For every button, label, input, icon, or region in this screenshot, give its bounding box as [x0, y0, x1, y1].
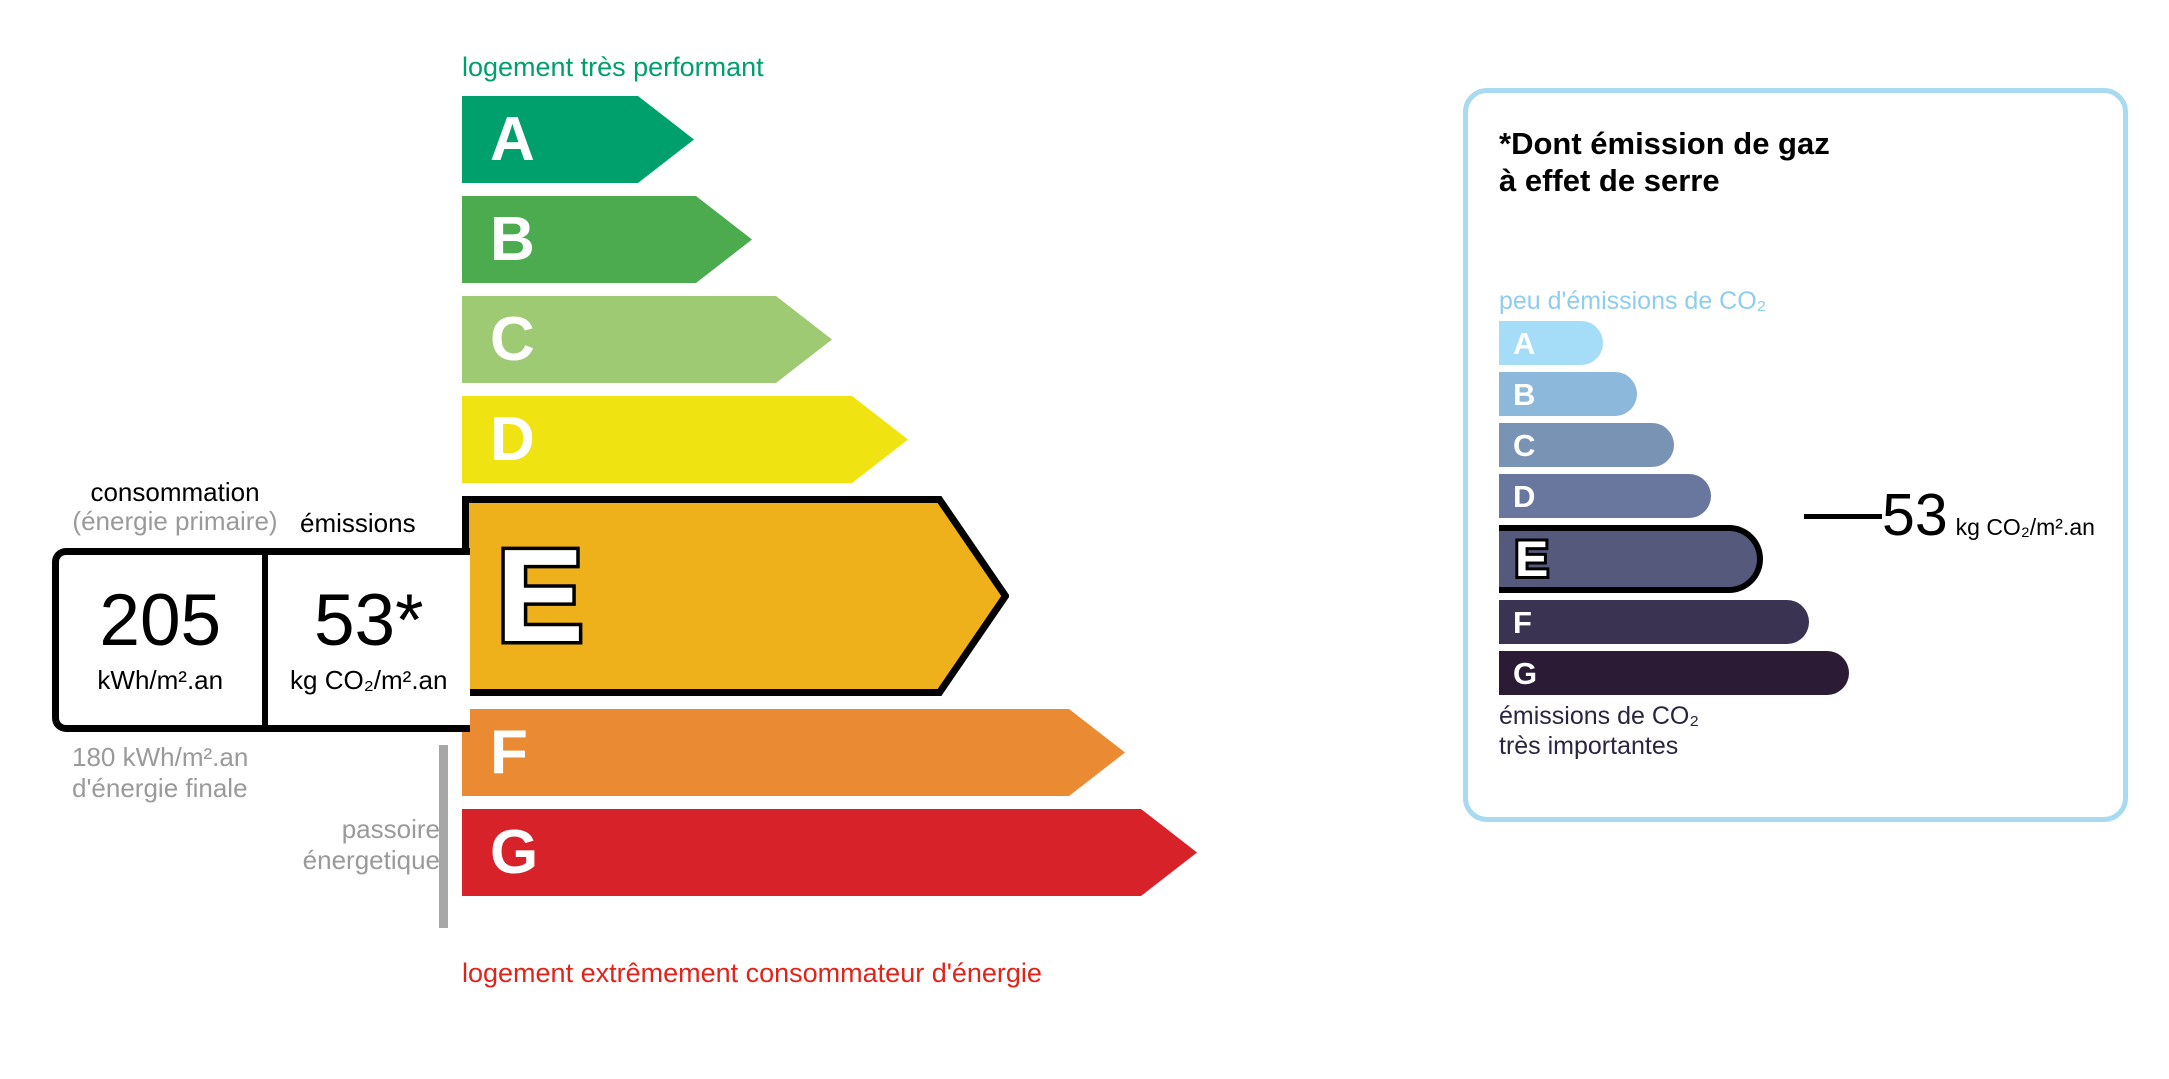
co2-class-letter-a: A — [1513, 328, 1535, 359]
energy-class-bar-list: ABCDEFG — [462, 96, 1362, 909]
consumption-value-cell: 205 kWh/m².an — [59, 555, 262, 725]
co2-bar-e: E — [1499, 525, 1763, 593]
emissions-value: 53* — [314, 584, 424, 657]
energy-class-letter-d: D — [490, 409, 535, 471]
callout-leader-line-icon — [1804, 514, 1882, 519]
co2-bar-row-a: A — [1499, 321, 2099, 365]
energy-performance-panel: logement très performant ABCDEFG logemen… — [0, 0, 1380, 1079]
co2-bottom-caption-line-2: très importantes — [1499, 731, 1699, 761]
passoire-indicator-bar — [439, 745, 448, 928]
emissions-caption: émissions — [300, 508, 416, 539]
energy-arrow-f: F — [462, 709, 1362, 796]
energy-class-letter-e: E — [496, 530, 584, 662]
co2-class-letter-b: B — [1513, 379, 1535, 410]
co2-bar-row-c: C — [1499, 423, 2099, 467]
co2-bar-f: F — [1499, 600, 1809, 644]
co2-title-line-2: à effet de serre — [1499, 162, 1830, 199]
co2-class-letter-g: G — [1513, 658, 1537, 689]
co2-class-letter-c: C — [1513, 430, 1535, 461]
passoire-caption: passoire énergetique — [250, 814, 440, 875]
co2-bottom-caption: émissions de CO₂ très importantes — [1499, 701, 1699, 761]
co2-top-caption: peu d'émissions de CO₂ — [1499, 287, 1766, 316]
co2-panel-title: *Dont émission de gaz à effet de serre — [1499, 125, 1830, 199]
co2-bottom-caption-line-1: émissions de CO₂ — [1499, 701, 1699, 731]
energy-class-letter-f: F — [490, 722, 528, 784]
energy-arrow-shape-g — [462, 809, 1197, 896]
energy-arrow-d: D — [462, 396, 1362, 483]
co2-class-letter-d: D — [1513, 481, 1535, 512]
energy-class-letter-b: B — [490, 209, 535, 271]
co2-bar-c: C — [1499, 423, 1674, 467]
co2-bar-a: A — [1499, 321, 1603, 365]
energy-arrow-c: C — [462, 296, 1362, 383]
energy-scale-top-caption: logement très performant — [462, 52, 764, 83]
co2-callout-value: 53 — [1882, 486, 1948, 545]
energy-scale-bottom-caption: logement extrêmement consommateur d'éner… — [462, 958, 1042, 989]
energy-class-letter-a: A — [490, 109, 535, 171]
co2-value-callout: 53 kg CO₂/m².an — [1804, 486, 2095, 545]
passoire-line-2: énergetique — [250, 845, 440, 876]
energy-bar-row-a: A — [462, 96, 1362, 183]
consumption-value: 205 — [99, 584, 221, 657]
measurement-value-box: 205 kWh/m².an 53* kg CO₂/m².an — [52, 548, 470, 732]
consumption-caption-main: consommation — [60, 478, 290, 507]
consumption-caption-sub: (énergie primaire) — [60, 507, 290, 536]
energy-class-letter-g: G — [490, 822, 538, 884]
final-energy-caption: 180 kWh/m².an d'énergie finale — [72, 742, 248, 803]
energy-class-letter-c: C — [490, 309, 535, 371]
final-energy-value: 180 kWh/m².an — [72, 742, 248, 773]
co2-bar-row-g: G — [1499, 651, 2099, 695]
energy-bar-row-c: C — [462, 296, 1362, 383]
energy-arrow-b: B — [462, 196, 1362, 283]
energy-arrow-g: G — [462, 809, 1362, 896]
energy-bar-row-f: F — [462, 709, 1362, 796]
co2-bar-row-b: B — [1499, 372, 2099, 416]
emissions-value-cell: 53* kg CO₂/m².an — [262, 555, 471, 725]
energy-bar-row-b: B — [462, 196, 1362, 283]
final-energy-label: d'énergie finale — [72, 773, 248, 804]
energy-bar-row-d: D — [462, 396, 1362, 483]
consumption-caption: consommation (énergie primaire) — [60, 478, 290, 536]
energy-arrow-e: E — [462, 496, 1362, 696]
co2-bar-d: D — [1499, 474, 1711, 518]
energy-arrow-shape-f — [462, 709, 1125, 796]
energy-arrow-a: A — [462, 96, 1362, 183]
co2-bar-b: B — [1499, 372, 1637, 416]
co2-class-letter-f: F — [1513, 607, 1532, 638]
passoire-line-1: passoire — [250, 814, 440, 845]
co2-class-letter-e: E — [1515, 534, 1548, 584]
co2-callout-unit: kg CO₂/m².an — [1956, 514, 2095, 541]
greenhouse-gas-panel: *Dont émission de gaz à effet de serre p… — [1463, 88, 2128, 822]
energy-bar-row-e: E — [462, 496, 1362, 696]
energy-bar-row-g: G — [462, 809, 1362, 896]
consumption-unit: kWh/m².an — [97, 665, 223, 696]
co2-bar-row-f: F — [1499, 600, 2099, 644]
co2-title-line-1: *Dont émission de gaz — [1499, 125, 1830, 162]
co2-bar-g: G — [1499, 651, 1849, 695]
emissions-unit: kg CO₂/m².an — [290, 665, 447, 696]
